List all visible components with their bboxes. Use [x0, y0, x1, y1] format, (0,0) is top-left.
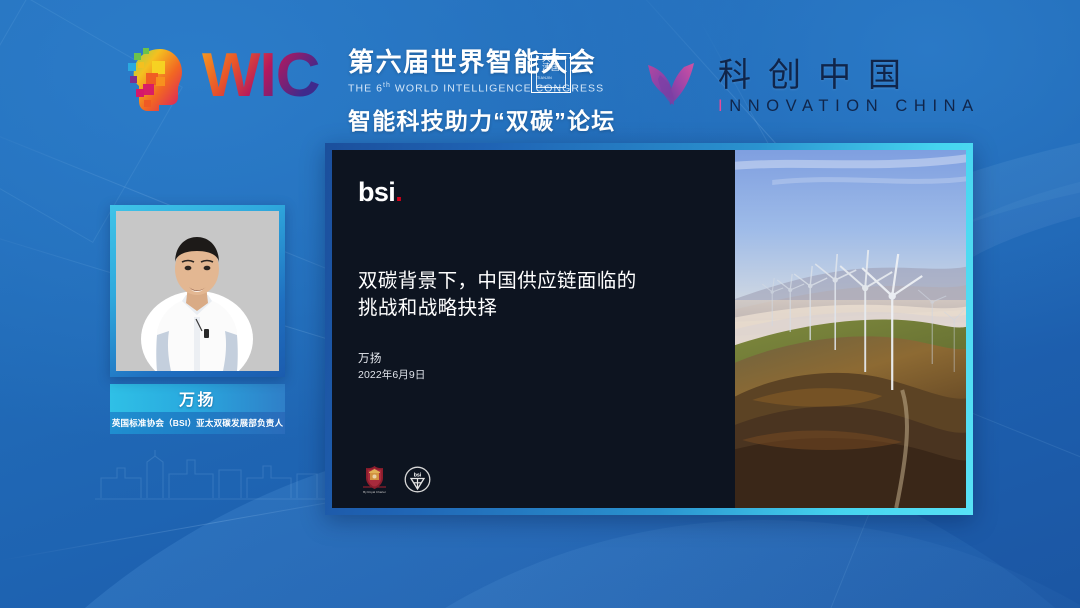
- slide-title-line-2: 挑战和战略抉择: [358, 295, 709, 322]
- speaker-video[interactable]: [116, 211, 279, 371]
- speaker-portrait: [116, 211, 279, 371]
- event-header: WIC 第六届世界智能大会 THE 6th WORLD INTELLIGENCE…: [0, 0, 1080, 150]
- congress-title-en: THE 6th WORLD INTELLIGENCE CONGRESS: [348, 78, 615, 97]
- speaker-video-frame: [110, 205, 285, 377]
- congress-title-block: 第六届世界智能大会 THE 6th WORLD INTELLIGENCE CON…: [348, 47, 615, 136]
- innovation-china-mark-icon: [640, 55, 702, 117]
- innovation-china-en: INNOVATION CHINA: [718, 96, 980, 116]
- speaker-nameplate: 万扬 英国标准协会（BSI）亚太双碳发展部负责人: [110, 384, 285, 434]
- slide-meta: 万扬 2022年6月9日: [358, 352, 709, 382]
- congress-title-cn: 第六届世界智能大会: [348, 47, 615, 77]
- slide-date: 2022年6月9日: [358, 368, 709, 382]
- svg-text:By Royal Charter: By Royal Charter: [363, 490, 386, 494]
- slide-title: 双碳背景下，中国供应链面临的 挑战和战略抉择: [358, 268, 709, 322]
- speaker-panel: 万扬 英国标准协会（BSI）亚太双碳发展部负责人: [110, 205, 285, 434]
- wic-head-icon: [126, 39, 192, 113]
- slide-content: bsi. 双碳背景下，中国供应链面临的 挑战和战略抉择 万扬 2022年6月9日: [332, 150, 735, 508]
- slide-presenter: 万扬: [358, 352, 709, 367]
- badge-sub: TIANJIN CHINA: [537, 74, 565, 92]
- tianjin-china-badge-inner: 天中 津国 TIANJIN CHINA: [536, 59, 566, 88]
- slide[interactable]: bsi. 双碳背景下，中国供应链面临的 挑战和战略抉择 万扬 2022年6月9日: [332, 150, 966, 508]
- badge-line-2: 津国: [542, 63, 560, 72]
- presentation-slide-area: bsi. 双碳背景下，中国供应链面临的 挑战和战略抉择 万扬 2022年6月9日: [325, 143, 973, 515]
- svg-text:WIC: WIC: [202, 41, 320, 110]
- slide-footer-logos: By Royal Charter bsi: [358, 464, 431, 494]
- tianjin-china-badge: 天中 津国 TIANJIN CHINA: [531, 53, 571, 93]
- royal-charter-crest-icon: By Royal Charter: [358, 464, 391, 494]
- innovation-china-logo: 科创中国 INNOVATION CHINA: [640, 55, 980, 117]
- skyline-outline: [95, 448, 335, 500]
- svg-text:bsi: bsi: [414, 472, 422, 478]
- slide-frame: bsi. 双碳背景下，中国供应链面临的 挑战和战略抉择 万扬 2022年6月9日: [325, 143, 973, 515]
- bsi-kitemark-icon: bsi: [404, 466, 431, 493]
- slide-title-line-1: 双碳背景下，中国供应链面临的: [358, 268, 709, 295]
- speaker-title: 英国标准协会（BSI）亚太双碳发展部负责人: [110, 412, 285, 434]
- innovation-china-cn: 科创中国: [718, 56, 980, 94]
- bsi-logo: bsi.: [358, 178, 709, 206]
- forum-title-cn: 智能科技助力“双碳”论坛: [348, 102, 615, 136]
- slide-photo: [735, 150, 966, 508]
- speaker-name: 万扬: [110, 384, 285, 412]
- innovation-china-text: 科创中国 INNOVATION CHINA: [718, 56, 980, 116]
